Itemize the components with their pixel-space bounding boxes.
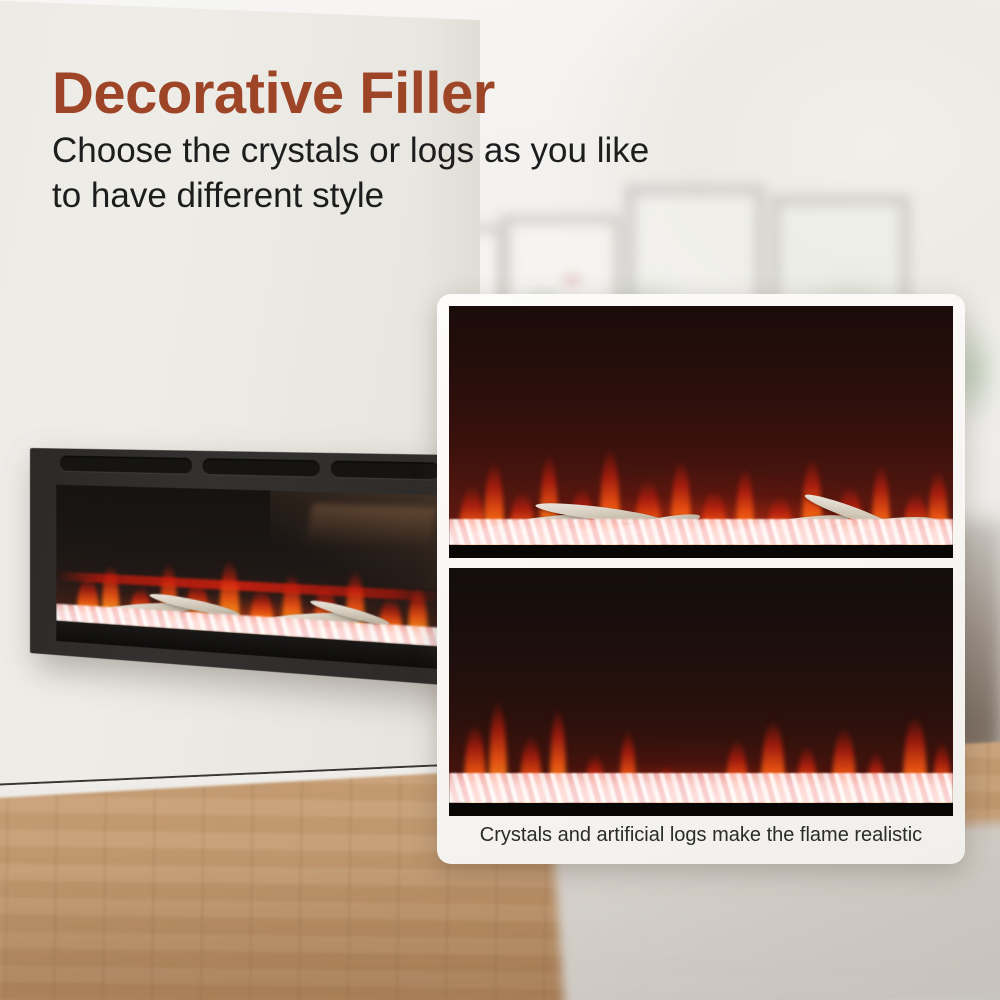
crystals-only-flame-photo: [449, 568, 953, 816]
vent-slot: [203, 458, 319, 476]
glass-reflection: [306, 503, 437, 546]
vent-slot: [60, 456, 192, 474]
page-subtitle: Choose the crystals or logs as you like …: [52, 129, 872, 219]
logs-and-crystals-flame-photo: [449, 306, 953, 558]
wall-mounted-electric-fireplace: [30, 448, 454, 686]
fireplace-glass-panel: [57, 485, 443, 647]
product-feature-image: Decorative Filler Choose the crystals or…: [0, 0, 1000, 1000]
card-caption: Crystals and artificial logs make the fl…: [437, 806, 965, 864]
page-title: Decorative Filler: [52, 64, 872, 123]
firebox-floor-trim: [449, 545, 953, 558]
detail-photo-card: Crystals and artificial logs make the fl…: [437, 294, 965, 864]
crystal-bed: [449, 773, 953, 803]
vent-slot: [331, 461, 441, 480]
crystal-bed: [449, 519, 953, 545]
header-block: Decorative Filler Choose the crystals or…: [52, 64, 872, 219]
